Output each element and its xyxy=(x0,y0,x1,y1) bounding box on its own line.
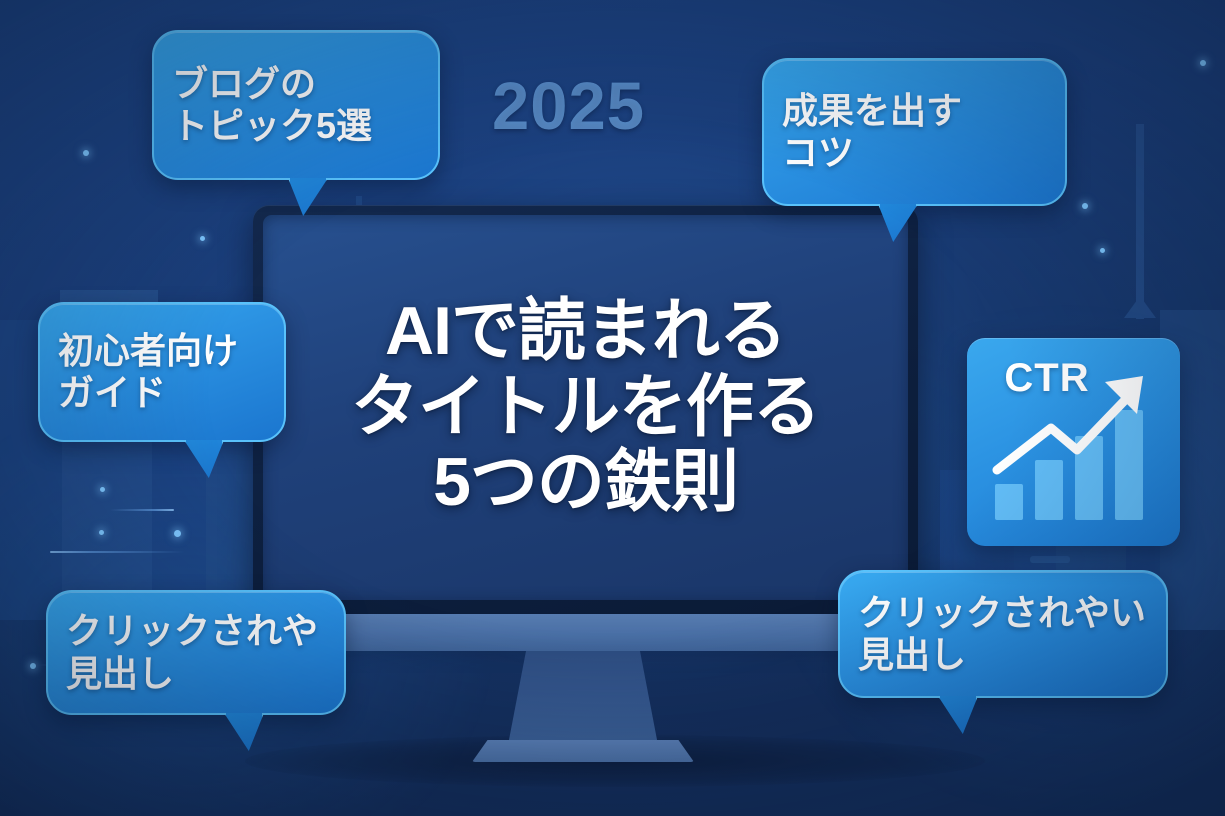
star-dot xyxy=(1200,60,1206,66)
ctr-chart-card[interactable]: CTR xyxy=(967,338,1180,546)
bubble-line: 成果を出す xyxy=(782,90,962,132)
monitor-neck xyxy=(508,651,658,745)
connector-line xyxy=(50,551,185,553)
year-watermark: 2025 xyxy=(492,68,645,145)
monitor-headline: AIで読まれる タイトルを作る 5つの鉄則 xyxy=(263,215,908,600)
bubble-line: 見出し xyxy=(66,653,174,695)
bubble-line: クリックされやい xyxy=(858,592,1146,634)
speech-bubble-results-tips[interactable]: 成果を出す コツ xyxy=(762,58,1067,206)
chart-bar xyxy=(995,484,1023,520)
speech-bubble-tail xyxy=(938,696,978,734)
bubble-line: 見出し xyxy=(858,634,966,676)
speech-bubble-beginner-guide[interactable]: 初心者向け ガイド xyxy=(38,302,286,442)
headline-line-2: タイトルを作る xyxy=(351,371,820,444)
speech-bubble-blog-topics[interactable]: ブログの トピック5選 xyxy=(152,30,440,180)
star-dot xyxy=(83,150,89,156)
chart-bar xyxy=(1035,460,1063,520)
bubble-line: ガイド xyxy=(58,372,166,414)
connector-line xyxy=(110,509,174,511)
headline-line-1: AIで読まれる xyxy=(385,295,786,368)
monitor-base xyxy=(472,740,694,762)
star-dot xyxy=(1082,203,1088,209)
star-dot xyxy=(200,236,205,241)
trend-up-arrow-icon xyxy=(997,398,1127,470)
speech-bubble-tail xyxy=(224,713,264,751)
headline-line-3: 5つの鉄則 xyxy=(433,446,738,519)
poster-canvas: 2025 AIで読まれる タイトルを作る 5つの鉄則 ブログの トピック5選 成… xyxy=(0,0,1225,816)
bubble-line: 初心者向け xyxy=(58,330,238,372)
star-dot xyxy=(1100,248,1105,253)
bubble-line: コツ xyxy=(782,132,854,174)
monitor-chin xyxy=(279,614,894,651)
bubble-line: トピック5選 xyxy=(172,105,372,147)
speech-bubble-tail xyxy=(184,440,224,478)
star-dot xyxy=(99,530,104,535)
chart-bar xyxy=(1115,410,1143,520)
star-dot xyxy=(174,530,181,537)
bar-chart-icon xyxy=(967,338,1180,546)
trend-arrow-head xyxy=(1105,376,1143,414)
bubble-line: ブログの xyxy=(172,63,316,105)
speech-bubble-clickable-heading-left[interactable]: クリックされや 見出し xyxy=(46,590,346,715)
speech-bubble-clickable-heading-right[interactable]: クリックされやい 見出し xyxy=(838,570,1168,698)
star-dot xyxy=(100,487,105,492)
bubble-line: クリックされや xyxy=(66,610,318,652)
star-dot xyxy=(30,663,36,669)
